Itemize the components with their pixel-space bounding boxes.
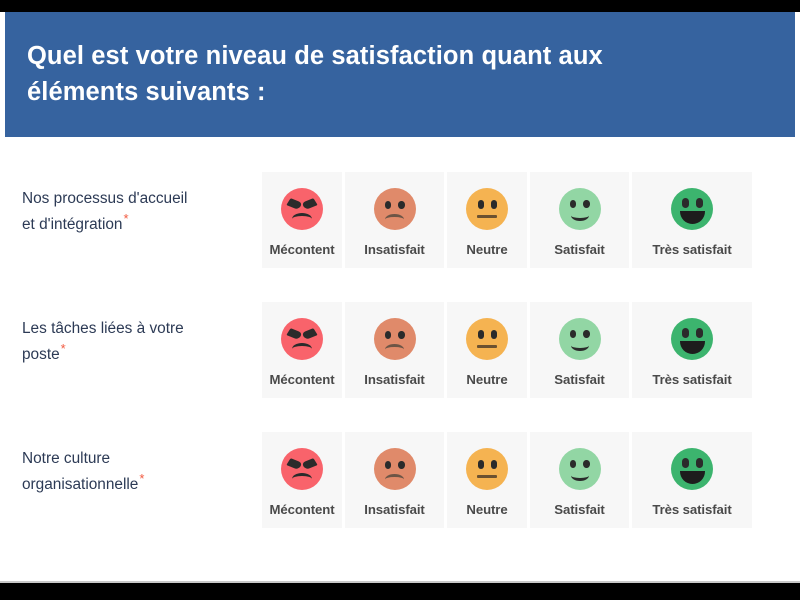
matrix-row: Nos processus d'accueil et d'intégration… [0, 137, 800, 267]
rating-option-label: Mécontent [269, 242, 334, 257]
rating-option-satisfait[interactable]: Satisfait [530, 432, 629, 528]
grinning-face-icon [671, 448, 713, 490]
eye-right [491, 330, 497, 339]
angry-face-icon [281, 188, 323, 230]
eye-left [385, 461, 392, 469]
rating-option-satisfait[interactable]: Satisfait [530, 172, 629, 268]
angry-brow-right [301, 328, 317, 340]
eye-right [491, 460, 497, 469]
rating-option-label: Satisfait [554, 502, 604, 517]
eye-left [385, 331, 392, 339]
rating-option-m-content[interactable]: Mécontent [262, 302, 342, 398]
eye-left [478, 460, 484, 469]
rating-option-label: Neutre [466, 502, 507, 517]
straight-mouth [477, 345, 497, 348]
rating-option-m-content[interactable]: Mécontent [262, 432, 342, 528]
rating-option-label: Insatisfait [364, 372, 424, 387]
rating-option-label: Satisfait [554, 372, 604, 387]
sad-face-icon [374, 448, 416, 490]
rating-option-group: MécontentInsatisfaitNeutreSatisfaitTrès … [262, 397, 752, 528]
eye-right [696, 198, 703, 208]
rating-option-label: Neutre [466, 242, 507, 257]
eye-left [570, 200, 577, 208]
eye-right [398, 331, 405, 339]
happy-face-icon [559, 318, 601, 360]
survey-screen: Quel est votre niveau de satisfaction qu… [0, 0, 800, 600]
sad-face-icon [374, 188, 416, 230]
rating-option-tr-s-satisfait[interactable]: Très satisfait [632, 172, 752, 268]
satisfaction-matrix: Nos processus d'accueil et d'intégration… [0, 137, 800, 527]
frown-mouth [292, 343, 312, 355]
required-asterisk: * [122, 211, 128, 226]
rating-option-label: Très satisfait [652, 372, 731, 387]
rating-option-insatisfait[interactable]: Insatisfait [345, 432, 444, 528]
straight-mouth [477, 215, 497, 218]
page-title: Quel est votre niveau de satisfaction qu… [27, 38, 769, 110]
required-asterisk: * [60, 341, 66, 356]
rating-option-label: Mécontent [269, 502, 334, 517]
matrix-row: Les tâches liées à votre poste*Mécontent… [0, 267, 800, 397]
eye-right [583, 330, 590, 338]
angry-brow-left [286, 458, 302, 470]
open-smile-mouth [680, 341, 705, 354]
eye-left [682, 328, 689, 338]
rating-option-label: Très satisfait [652, 502, 731, 517]
rating-option-neutre[interactable]: Neutre [447, 432, 527, 528]
grinning-face-icon [671, 318, 713, 360]
angry-face-icon [281, 318, 323, 360]
frown-mouth [385, 474, 404, 485]
eye-left [682, 198, 689, 208]
angry-face-icon [281, 448, 323, 490]
open-smile-mouth [680, 471, 705, 484]
question-label: Nos processus d'accueil et d'intégration… [0, 137, 262, 238]
question-label: Les tâches liées à votre poste* [0, 267, 262, 368]
required-asterisk: * [138, 471, 144, 486]
neutral-face-icon [466, 448, 508, 490]
eye-right [491, 200, 497, 209]
rating-option-label: Insatisfait [364, 502, 424, 517]
rating-option-m-content[interactable]: Mécontent [262, 172, 342, 268]
eye-right [398, 461, 405, 469]
eye-right [696, 458, 703, 468]
frown-mouth [292, 213, 312, 225]
angry-brow-right [301, 198, 317, 210]
rating-option-group: MécontentInsatisfaitNeutreSatisfaitTrès … [262, 267, 752, 398]
eye-left [385, 201, 392, 209]
angry-brow-right [301, 458, 317, 470]
question-header-banner: Quel est votre niveau de satisfaction qu… [5, 12, 795, 137]
open-smile-mouth [680, 211, 705, 224]
frown-mouth [292, 473, 312, 485]
page-bottom-divider [0, 581, 800, 583]
angry-brow-left [286, 328, 302, 340]
rating-option-satisfait[interactable]: Satisfait [530, 302, 629, 398]
question-text: Nos processus d'accueil et d'intégration [22, 190, 187, 233]
rating-option-label: Insatisfait [364, 242, 424, 257]
eye-right [583, 200, 590, 208]
eye-right [583, 460, 590, 468]
rating-option-tr-s-satisfait[interactable]: Très satisfait [632, 432, 752, 528]
rating-option-label: Très satisfait [652, 242, 731, 257]
rating-option-label: Satisfait [554, 242, 604, 257]
rating-option-label: Neutre [466, 372, 507, 387]
question-text: Notre culture organisationnelle [22, 450, 138, 493]
eye-right [398, 201, 405, 209]
rating-option-neutre[interactable]: Neutre [447, 172, 527, 268]
angry-brow-left [286, 198, 302, 210]
frown-mouth [385, 344, 404, 355]
question-text: Les tâches liées à votre poste [22, 320, 184, 363]
neutral-face-icon [466, 318, 508, 360]
smile-mouth [571, 210, 589, 221]
eye-left [682, 458, 689, 468]
eye-right [696, 328, 703, 338]
happy-face-icon [559, 188, 601, 230]
rating-option-label: Mécontent [269, 372, 334, 387]
rating-option-insatisfait[interactable]: Insatisfait [345, 302, 444, 398]
eye-left [570, 460, 577, 468]
frown-mouth [385, 214, 404, 225]
grinning-face-icon [671, 188, 713, 230]
neutral-face-icon [466, 188, 508, 230]
rating-option-neutre[interactable]: Neutre [447, 302, 527, 398]
smile-mouth [571, 340, 589, 351]
question-label: Notre culture organisationnelle* [0, 397, 262, 498]
rating-option-tr-s-satisfait[interactable]: Très satisfait [632, 302, 752, 398]
matrix-row: Notre culture organisationnelle*Méconten… [0, 397, 800, 527]
happy-face-icon [559, 448, 601, 490]
eye-left [478, 330, 484, 339]
smile-mouth [571, 470, 589, 481]
rating-option-group: MécontentInsatisfaitNeutreSatisfaitTrès … [262, 137, 752, 268]
eye-left [478, 200, 484, 209]
eye-left [570, 330, 577, 338]
straight-mouth [477, 475, 497, 478]
rating-option-insatisfait[interactable]: Insatisfait [345, 172, 444, 268]
sad-face-icon [374, 318, 416, 360]
